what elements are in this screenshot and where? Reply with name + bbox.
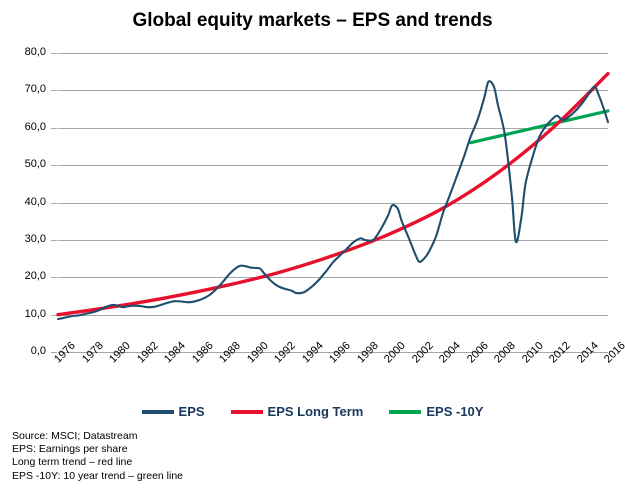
plot-area <box>58 53 608 352</box>
legend-item[interactable]: EPS Long Term <box>231 404 364 419</box>
series-line-eps <box>58 81 608 319</box>
series-lines <box>58 53 608 352</box>
y-axis-tick-label: 80,0 <box>0 46 46 58</box>
footnote-ten-year-trend: EPS -10Y: 10 year trend – green line <box>12 470 432 483</box>
y-axis-tick-mark <box>51 53 57 54</box>
legend-item[interactable]: EPS -10Y <box>389 404 483 419</box>
y-axis-tick-label: 70,0 <box>0 83 46 95</box>
y-axis-tick-mark <box>51 277 57 278</box>
y-axis-tick-label: 60,0 <box>0 121 46 133</box>
y-axis-tick-mark <box>51 240 57 241</box>
legend-label: EPS Long Term <box>268 404 364 419</box>
chart-title: Global equity markets – EPS and trends <box>0 10 625 32</box>
y-axis-tick-label: 50,0 <box>0 158 46 170</box>
footnote-source: Source: MSCI; Datastream <box>12 430 432 443</box>
legend-swatch-icon <box>231 410 263 414</box>
legend-item[interactable]: EPS <box>142 404 205 419</box>
footnote-eps-definition: EPS: Earnings per share <box>12 443 432 456</box>
y-axis-tick-mark <box>51 203 57 204</box>
legend-swatch-icon <box>389 410 421 414</box>
chart-container: Global equity markets – EPS and trends 0… <box>0 0 625 492</box>
y-axis-tick-mark <box>51 128 57 129</box>
legend-swatch-icon <box>142 410 174 414</box>
y-axis-tick-mark <box>51 90 57 91</box>
chart-footnotes: Source: MSCI; Datastream EPS: Earnings p… <box>12 430 432 483</box>
footnote-long-term-trend: Long term trend – red line <box>12 456 432 469</box>
legend-label: EPS <box>179 404 205 419</box>
chart-legend: EPSEPS Long TermEPS -10Y <box>0 404 625 419</box>
y-axis-tick-mark <box>51 165 57 166</box>
y-axis-tick-label: 0,0 <box>0 345 46 357</box>
y-axis-tick-label: 10,0 <box>0 308 46 320</box>
legend-label: EPS -10Y <box>426 404 483 419</box>
series-line-eps-long-term <box>58 74 608 315</box>
y-axis-tick-mark <box>51 315 57 316</box>
y-axis-tick-label: 30,0 <box>0 233 46 245</box>
y-axis-tick-label: 20,0 <box>0 270 46 282</box>
y-axis-tick-label: 40,0 <box>0 196 46 208</box>
